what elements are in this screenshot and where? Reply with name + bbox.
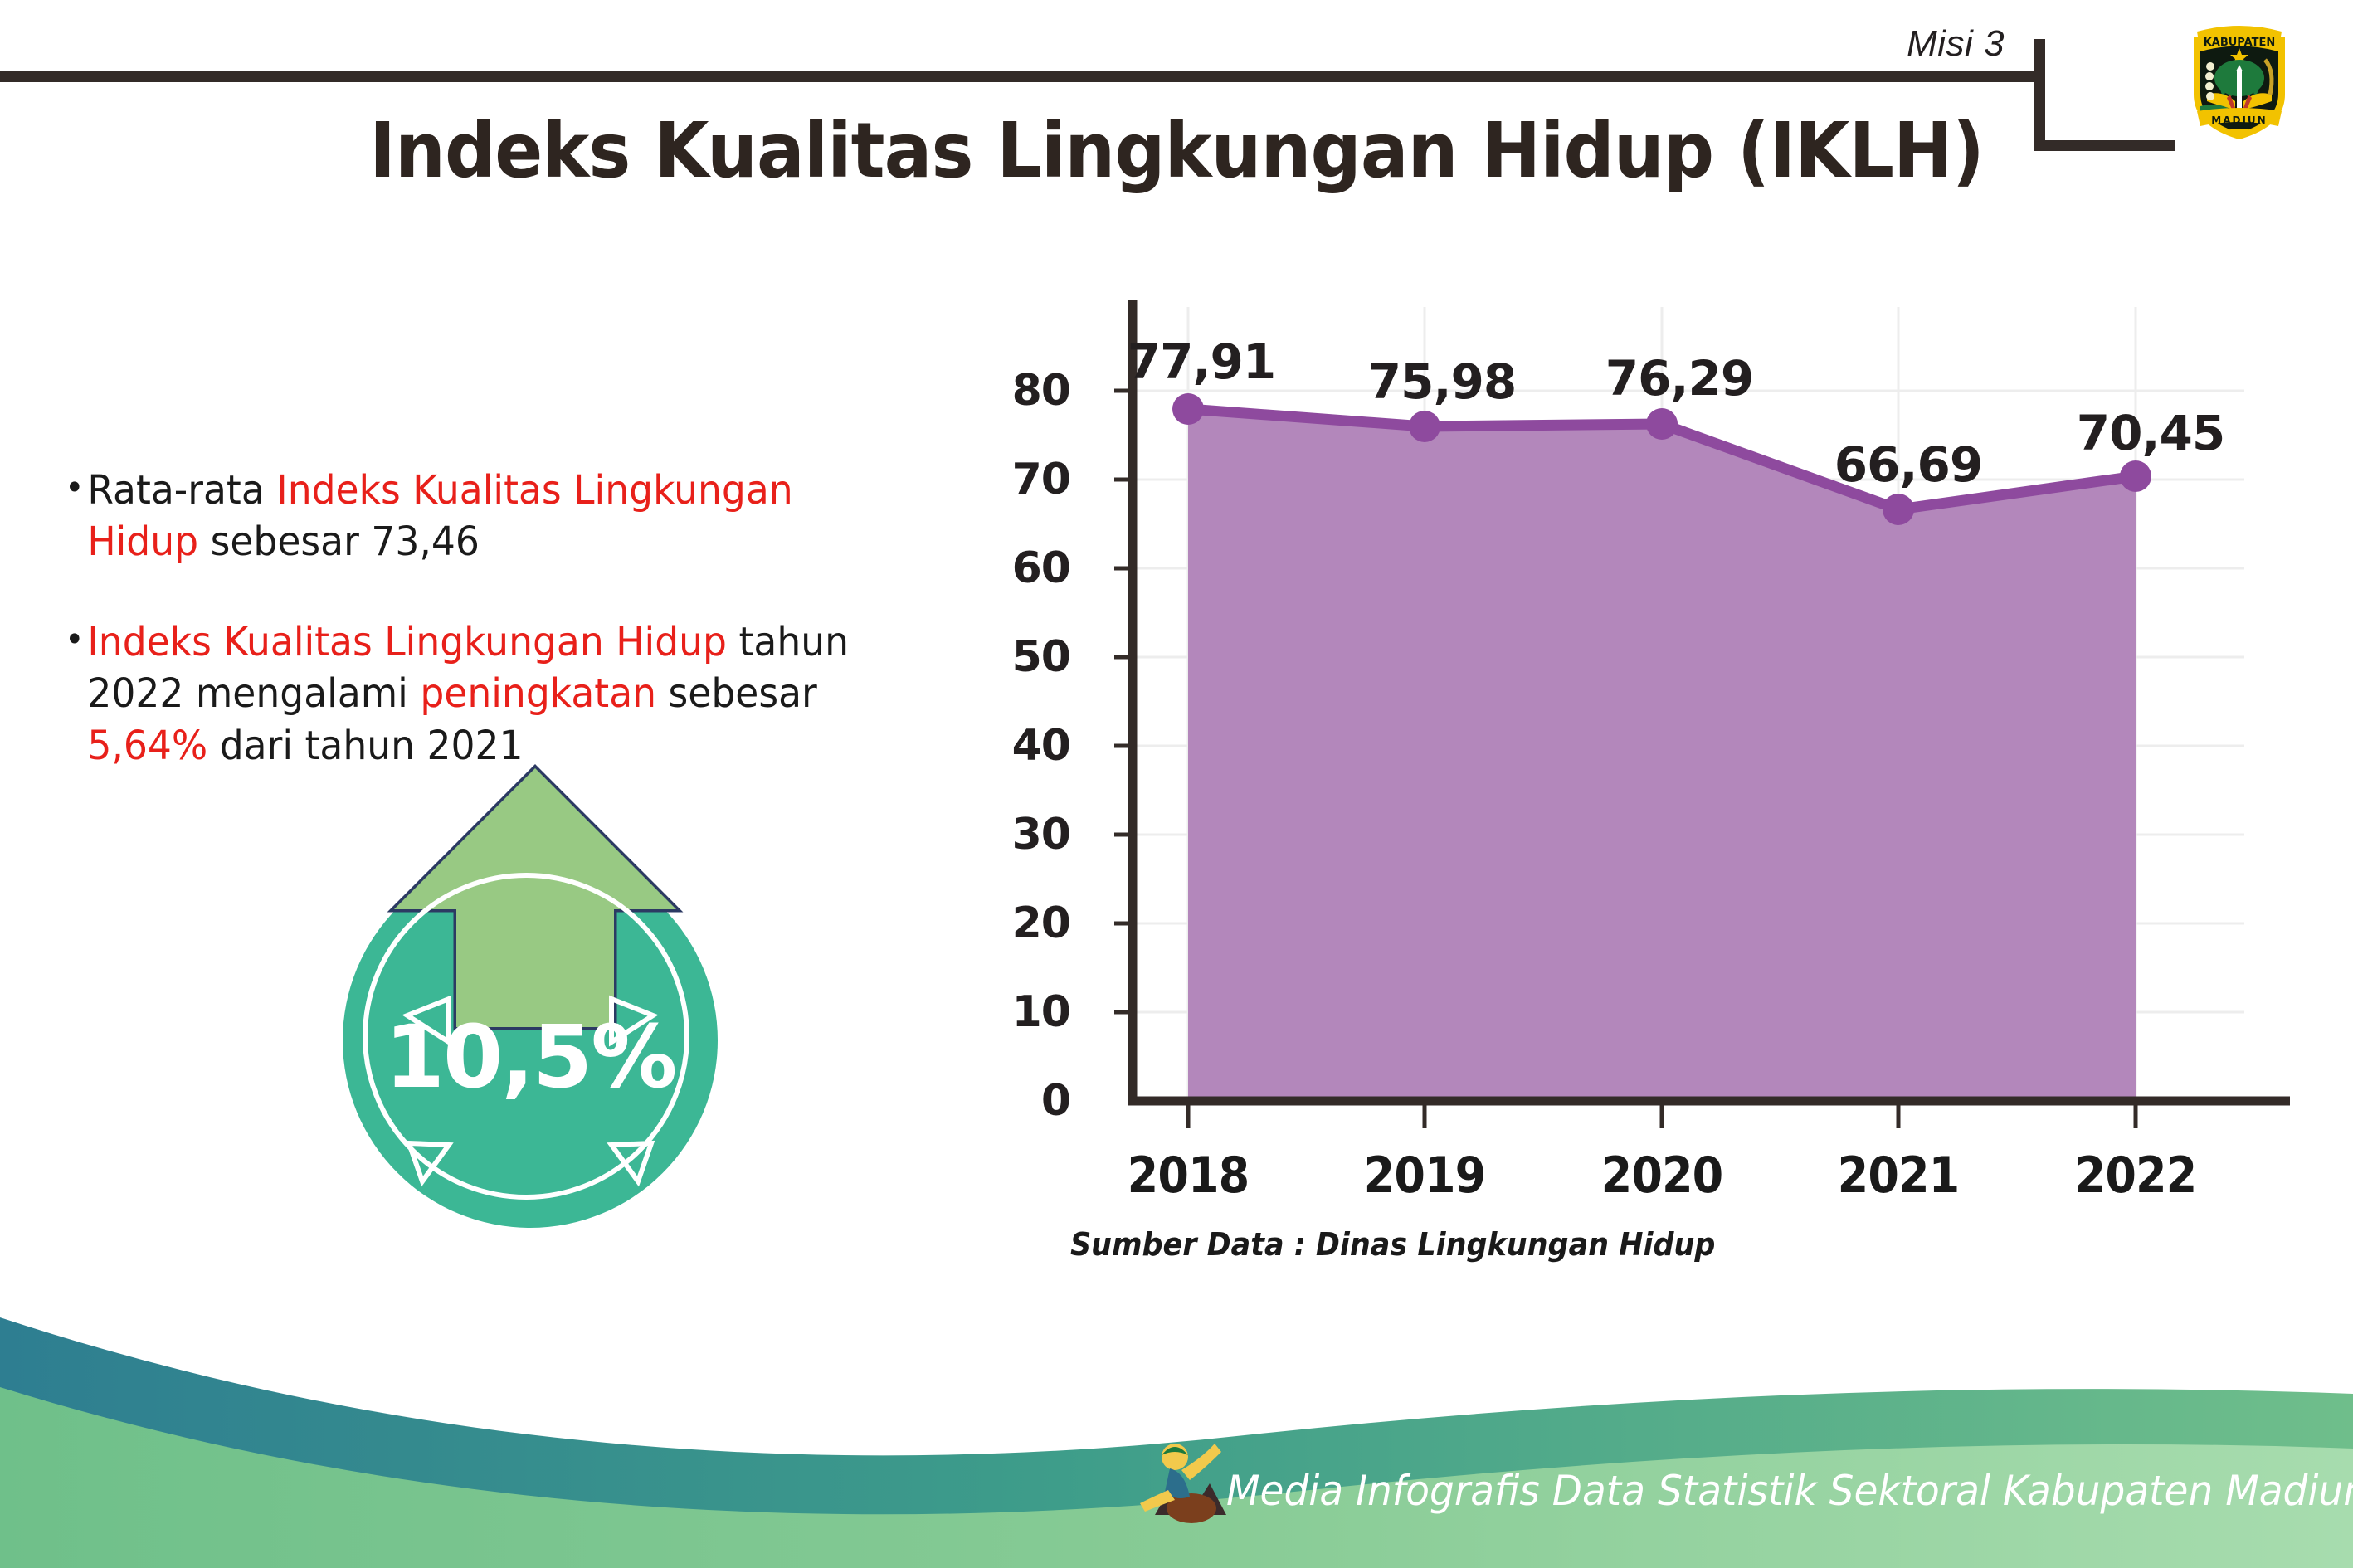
bullet-text: Indeks Kualitas Lingkungan Hidup tahun 2…: [87, 616, 900, 772]
person-statistics-icon: [1138, 1432, 1238, 1548]
bullet-segment: Rata-rata: [87, 467, 276, 514]
data-label: 75,98: [1368, 353, 1516, 410]
bullet-marker: •: [65, 616, 85, 664]
bullet-marker: •: [65, 465, 85, 512]
y-tick-label: 20: [979, 898, 1070, 948]
y-tick-label: 80: [979, 366, 1070, 416]
bullet-segment-highlight: 5,64%: [87, 723, 207, 769]
data-label: 77,91: [1128, 334, 1275, 390]
bullet-segment: sebesar: [656, 670, 817, 717]
chart-area-fill: [1188, 409, 2136, 1101]
footer-label: Media Infografis Data Statistik Sektoral…: [1226, 1467, 2353, 1515]
frame-top-line: [0, 71, 2034, 82]
increase-badge: 10,5%: [328, 762, 759, 1226]
bullet-segment: sebesar 73,46: [198, 519, 480, 565]
y-tick-label: 50: [979, 632, 1070, 682]
source-note: Sumber Data : Dinas Lingkungan Hidup: [1070, 1226, 1715, 1263]
data-label: 76,29: [1605, 350, 1753, 407]
list-item: • Indeks Kualitas Lingkungan Hidup tahun…: [65, 616, 900, 772]
list-item: • Rata-rata Indeks Kualitas Lingkungan H…: [65, 465, 900, 568]
y-tick-label: 30: [979, 810, 1070, 859]
y-tick-label: 70: [979, 455, 1070, 504]
badge-percent-label: 10,5%: [343, 1006, 718, 1108]
misi-label: Misi 3: [1907, 23, 2005, 65]
logo-top-text: KABUPATEN: [2204, 37, 2276, 49]
y-tick-label: 60: [979, 543, 1070, 593]
infographic-slide: Misi 3 KABUPATEN MADIUN: [0, 0, 2353, 1568]
x-tick-label: 2021: [1838, 1147, 1960, 1205]
y-tick-label: 10: [979, 987, 1070, 1037]
data-label: 66,69: [1834, 436, 1982, 493]
x-tick-label: 2020: [1601, 1147, 1723, 1205]
x-tick-label: 2022: [2075, 1147, 2197, 1205]
bullet-segment-highlight: peningkatan: [420, 670, 656, 717]
y-tick-label: 0: [979, 1076, 1070, 1126]
x-tick-label: 2018: [1128, 1147, 1250, 1205]
x-tick-label: 2019: [1364, 1147, 1486, 1205]
data-label: 70,45: [2077, 405, 2224, 461]
page-title: Indeks Kualitas Lingkungan Hidup (IKLH): [82, 106, 2270, 195]
bullet-text: Rata-rata Indeks Kualitas Lingkungan Hid…: [87, 465, 900, 568]
bullet-segment-highlight: Indeks Kualitas Lingkungan Hidup: [87, 619, 727, 665]
iklh-area-chart: 0 10 20 30 40 50 60 70 80 2018 2019 2020…: [962, 274, 2290, 1203]
y-tick-label: 40: [979, 721, 1070, 771]
